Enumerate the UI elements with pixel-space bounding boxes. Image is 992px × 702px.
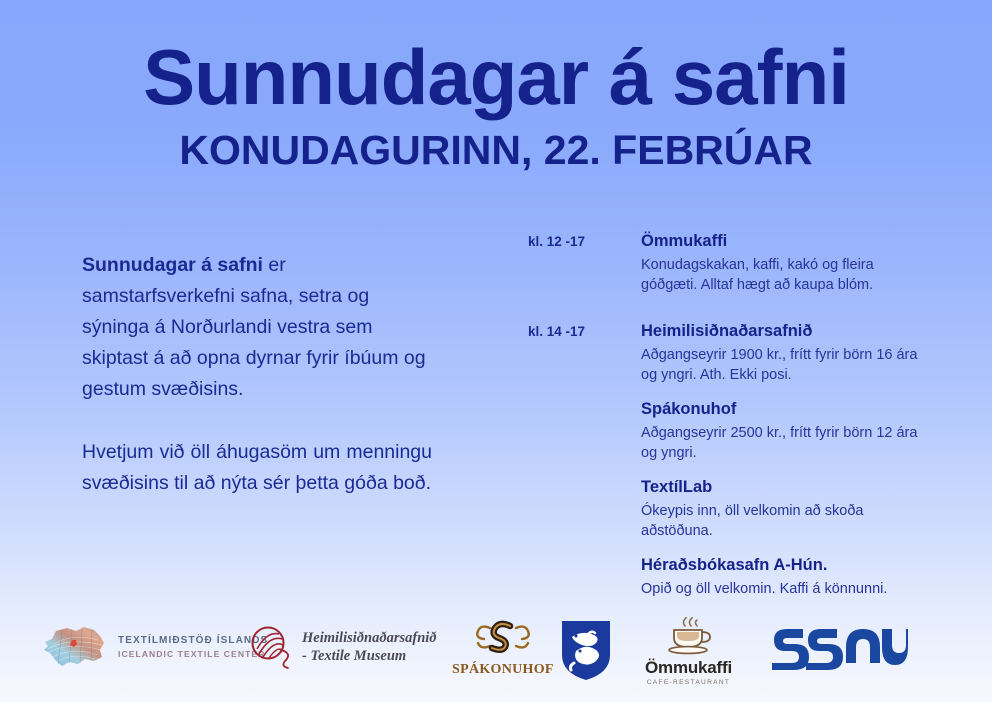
paragraph-spacer (82, 405, 432, 437)
ssnv-wordmark-icon (770, 627, 910, 671)
yarn-ball-icon (248, 623, 296, 671)
intro-column: Sunnudagar á safni er samstarfsverkefni … (82, 250, 432, 499)
textile-center-line2: ICELANDIC TEXTILE CENTER (118, 649, 268, 659)
slot-venues: Heimilisiðnaðarsafnið Aðgangseyrir 1900 … (641, 321, 928, 599)
venue-item: Héraðsbókasafn A-Hún. Opið og öll velkom… (641, 555, 928, 599)
poster-canvas: Sunnudagar á safni KONUDAGURINN, 22. FEB… (0, 0, 992, 702)
page-subtitle: KONUDAGURINN, 22. FEBRÚAR (0, 130, 992, 171)
coffee-cup-icon (658, 617, 720, 657)
spakonuhof-name: SPÁKONUHOF (452, 662, 554, 678)
venue-name: Spákonuhof (641, 399, 928, 420)
intro-lead: Sunnudagar á safni (82, 254, 263, 276)
intro-paragraph-1: Sunnudagar á safni er samstarfsverkefni … (82, 250, 432, 405)
logo-textile-center: TEXTÍLMIÐSTÖÐ ÍSLANDS ICELANDIC TEXTILE … (38, 619, 268, 675)
museum-line2: - Textile Museum (302, 647, 437, 665)
slot-time: kl. 12 -17 (528, 231, 641, 249)
venue-item: Ömmukaffi Konudagskakan, kaffi, kakó og … (641, 231, 928, 295)
textile-center-line1: TEXTÍLMIÐSTÖÐ ÍSLANDS (118, 635, 268, 646)
venue-description: Aðgangseyrir 1900 kr., frítt fyrir börn … (641, 345, 928, 385)
museum-text: Heimilisiðnaðarsafnið - Textile Museum (302, 629, 437, 665)
logo-ommukaffi: Ömmukaffi CAFE-RESTAURANT (645, 617, 732, 686)
venue-description: Ókeypis inn, öll velkomin að skoða aðstö… (641, 501, 928, 541)
intro-paragraph-2: Hvetjum við öll áhugasöm um menningu svæ… (82, 437, 432, 499)
page-title: Sunnudagar á safni (0, 38, 992, 116)
logo-spakonuhof: SPÁKONUHOF (452, 615, 554, 678)
logo-textile-museum: Heimilisiðnaðarsafnið - Textile Museum (248, 623, 437, 671)
schedule-slot: kl. 14 -17 Heimilisiðnaðarsafnið Aðgangs… (528, 321, 928, 599)
venue-name: Ömmukaffi (641, 231, 928, 252)
venue-name: Heimilisiðnaðarsafnið (641, 321, 928, 342)
schedule-slot: kl. 12 -17 Ömmukaffi Konudagskakan, kaff… (528, 231, 928, 295)
shield-crest-icon (558, 617, 614, 683)
slot-venues: Ömmukaffi Konudagskakan, kaffi, kakó og … (641, 231, 928, 295)
logo-strip: TEXTÍLMIÐSTÖÐ ÍSLANDS ICELANDIC TEXTILE … (0, 605, 992, 695)
venue-description: Aðgangseyrir 2500 kr., frítt fyrir börn … (641, 423, 928, 463)
ommukaffi-name: Ömmukaffi (645, 658, 732, 678)
logo-ssnv (770, 627, 910, 671)
slot-time: kl. 14 -17 (528, 321, 641, 339)
ommukaffi-subtitle: CAFE-RESTAURANT (647, 679, 731, 686)
logo-municipal-crest (558, 617, 614, 683)
venue-description: Konudagskakan, kaffi, kakó og fleira góð… (641, 255, 928, 295)
venue-description: Opið og öll velkomin. Kaffi á könnunni. (641, 579, 928, 599)
venue-item: Heimilisiðnaðarsafnið Aðgangseyrir 1900 … (641, 321, 928, 385)
venue-item: Spákonuhof Aðgangseyrir 2500 kr., frítt … (641, 399, 928, 463)
spakonuhof-monogram-icon (470, 615, 536, 659)
textile-center-text: TEXTÍLMIÐSTÖÐ ÍSLANDS ICELANDIC TEXTILE … (118, 635, 268, 659)
venue-item: TextílLab Ókeypis inn, öll velkomin að s… (641, 477, 928, 541)
museum-line1: Heimilisiðnaðarsafnið (302, 629, 437, 647)
schedule-list: kl. 12 -17 Ömmukaffi Konudagskakan, kaff… (528, 231, 928, 599)
venue-name: TextílLab (641, 477, 928, 498)
iceland-map-icon (38, 619, 110, 675)
venue-name: Héraðsbókasafn A-Hún. (641, 555, 928, 576)
title-block: Sunnudagar á safni KONUDAGURINN, 22. FEB… (0, 38, 992, 171)
